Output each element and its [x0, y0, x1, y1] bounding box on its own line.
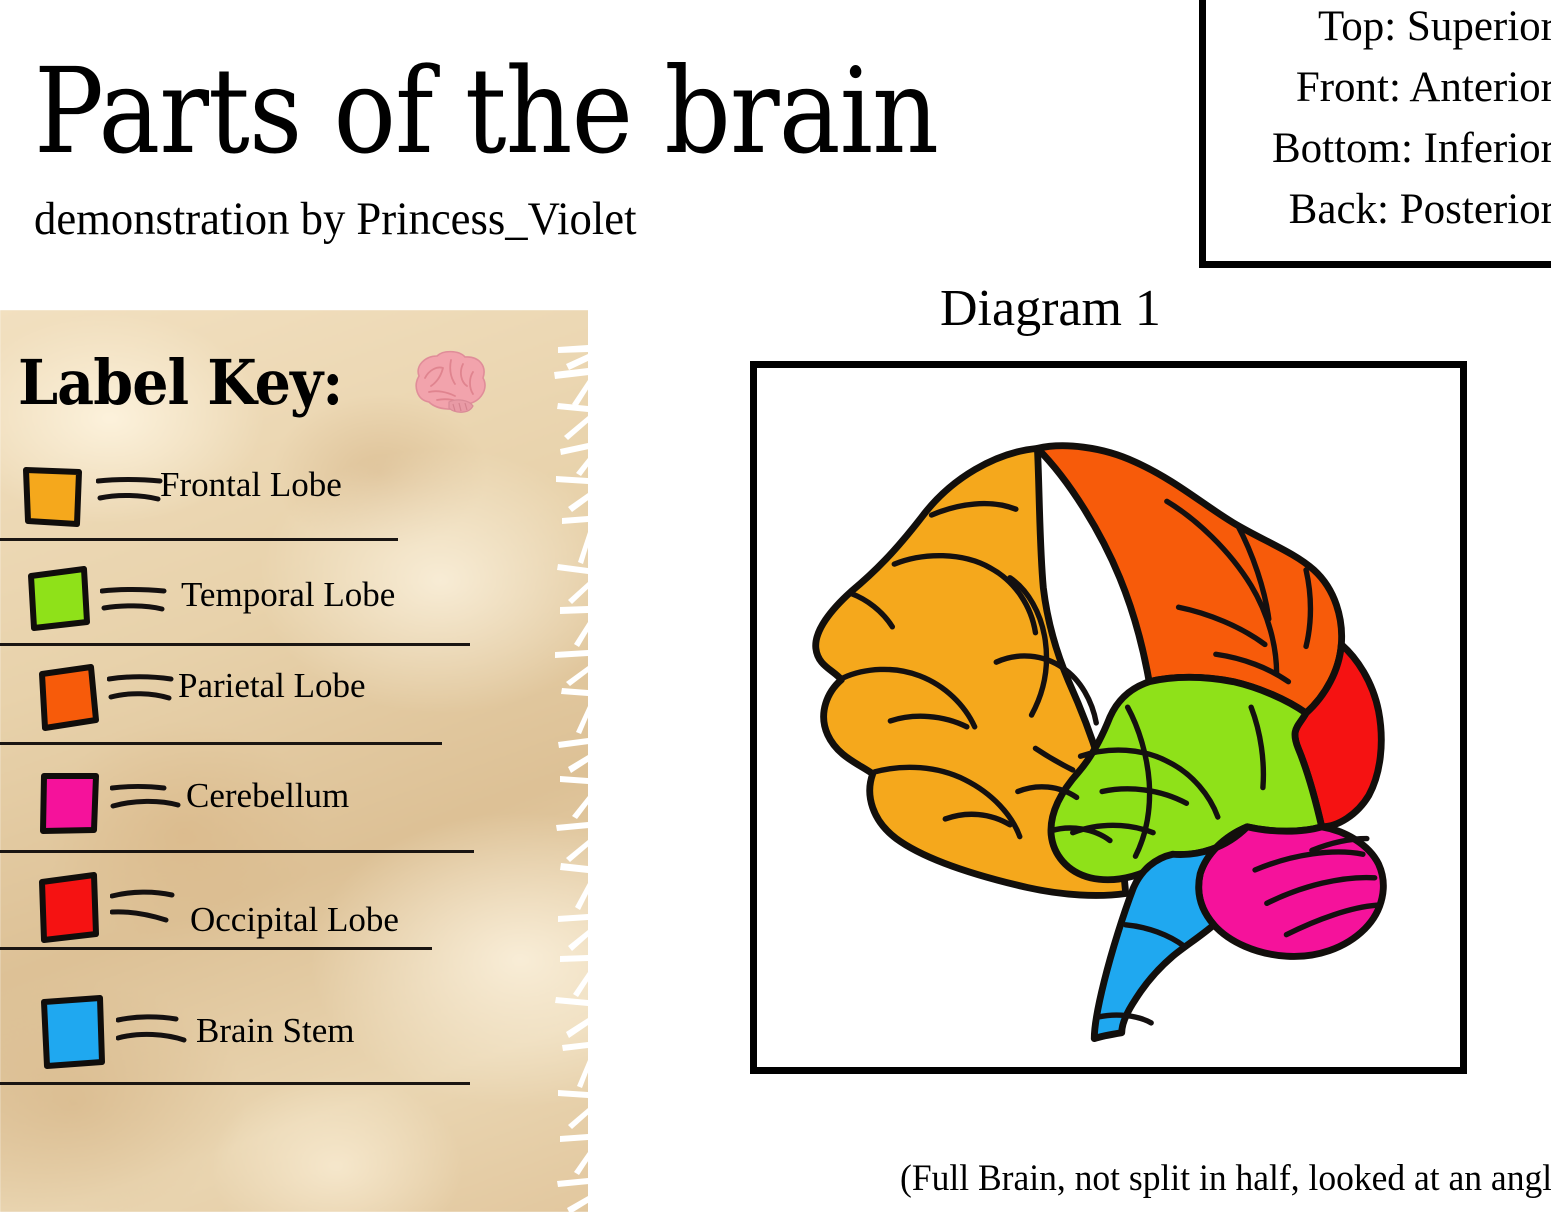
key-rule-1 [0, 538, 398, 541]
orientation-line-back: Back: Posterior [1206, 179, 1551, 240]
orientation-line-front: Front: Anterior [1206, 57, 1551, 118]
diagram-title: Diagram 1 [940, 283, 1161, 335]
key-row-brain-stem[interactable]: Brain Stem [0, 966, 612, 1096]
key-rule-4 [0, 850, 474, 853]
diagram-caption: (Full Brain, not split in half, looked a… [900, 1160, 1551, 1197]
key-row-parietal-lobe[interactable]: Parietal Lobe [0, 652, 612, 758]
orientation-line-top: Top: Superior [1206, 0, 1551, 57]
key-rule-2 [0, 643, 470, 646]
swatch-cerebellum [38, 772, 102, 836]
tick-marks-occipital-lobe [110, 886, 190, 926]
key-label-temporal-lobe: Temporal Lobe [181, 575, 395, 615]
swatch-parietal-lobe [34, 662, 100, 732]
tick-marks-parietal-lobe [107, 668, 187, 708]
key-label-frontal-lobe: Frontal Lobe [160, 465, 342, 505]
key-label-parietal-lobe: Parietal Lobe [178, 666, 366, 706]
key-label-brain-stem: Brain Stem [196, 1011, 354, 1051]
key-row-cerebellum[interactable]: Cerebellum [0, 758, 612, 862]
swatch-frontal-lobe [22, 466, 84, 528]
key-row-frontal-lobe[interactable]: Frontal Lobe [0, 460, 612, 544]
key-label-cerebellum: Cerebellum [186, 776, 349, 816]
swatch-brain-stem [38, 992, 108, 1072]
label-key-rows: Frontal Lobe Temporal Lobe Parie [0, 460, 612, 1096]
tick-marks-brain-stem [116, 1010, 196, 1050]
key-row-occipital-lobe[interactable]: Occipital Lobe [0, 862, 612, 966]
tick-marks-cerebellum [110, 778, 190, 818]
label-key-heading: Label Key: [18, 352, 342, 414]
key-rule-6 [0, 1082, 470, 1085]
key-label-occipital-lobe: Occipital Lobe [190, 900, 399, 940]
label-key-panel: Label Key: Frontal Lobe [0, 310, 612, 1212]
label-key-heading-row: Label Key: [18, 348, 493, 418]
orientation-line-bottom: Bottom: Inferior [1206, 118, 1551, 179]
brain-emoji-icon [407, 348, 493, 418]
brain-region-parietal-lobe [1037, 446, 1341, 713]
tick-marks-temporal-lobe [100, 580, 180, 620]
brain-diagram [757, 368, 1460, 1067]
page-subtitle: demonstration by Princess_Violet [34, 196, 636, 243]
swatch-occipital-lobe [36, 870, 102, 944]
diagram-box [750, 361, 1467, 1074]
key-rule-5 [0, 947, 432, 950]
page-title: Parts of the brain [34, 52, 938, 170]
key-rule-3 [0, 742, 442, 745]
key-row-temporal-lobe[interactable]: Temporal Lobe [0, 544, 612, 652]
swatch-temporal-lobe [26, 566, 92, 632]
orientation-legend-box: Top: Superior Front: Anterior Bottom: In… [1199, 0, 1551, 268]
